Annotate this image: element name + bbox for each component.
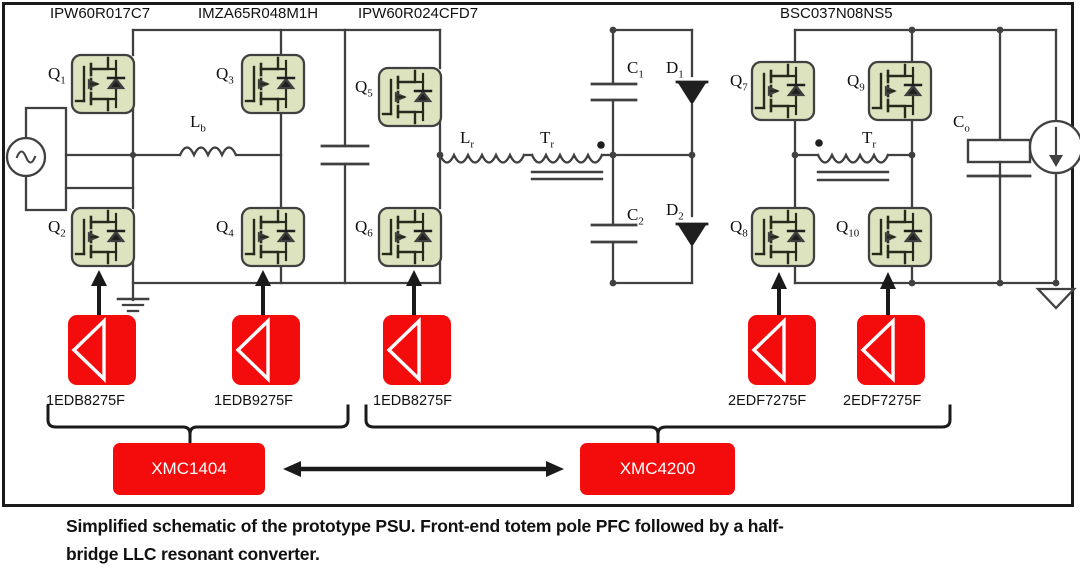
label-inductor-lr-sub: r (470, 138, 474, 150)
designator-q10-sub: 10 (848, 227, 859, 239)
mosfet-q9 (869, 62, 931, 120)
mcu-box-xmc4200[interactable]: XMC4200 (580, 443, 735, 495)
chassis-ground-icon (1038, 289, 1074, 308)
label-capacitor-c1-sub: 1 (638, 68, 644, 80)
designator-q5-sub: 5 (367, 87, 373, 99)
ac-source-icon (7, 138, 45, 176)
label-transformer-secondary: Tr (862, 128, 876, 150)
label-transformer-primary: Tr (540, 128, 554, 150)
designator-q2-sub: 2 (60, 227, 66, 239)
node-dot-sec-bottom (909, 280, 916, 287)
designator-q2-letter: Q (48, 217, 60, 236)
designator-q9-sub: 9 (859, 81, 865, 93)
double-headed-arrow-icon (283, 461, 564, 477)
inductor-lr-coil (440, 155, 524, 163)
designator-q8: Q8 (730, 217, 748, 239)
designator-q6-sub: 6 (367, 227, 373, 239)
transformer-secondary-winding (818, 155, 888, 163)
node-dot-load-gnd (1053, 280, 1060, 287)
node-dot-rect-mid (689, 152, 696, 159)
caption-line-2: bridge LLC resonant converter. (66, 540, 1026, 568)
designator-q5: Q5 (355, 77, 373, 99)
mosfet-q6 (379, 208, 441, 266)
label-diode-d1-letter: D (666, 58, 678, 77)
designator-q10: Q10 (836, 217, 859, 239)
capacitor-co-plate-box (968, 140, 1030, 162)
designator-q3-letter: Q (216, 64, 228, 83)
label-transformer-primary-sub: r (550, 138, 554, 150)
gate-driver-label-2: 1EDB9275F (214, 393, 293, 409)
mcu-box-xmc1404[interactable]: XMC1404 (113, 443, 265, 495)
figure-caption: Simplified schematic of the prototype PS… (66, 512, 1026, 568)
designator-q8-letter: Q (730, 217, 742, 236)
designator-q1-letter: Q (48, 64, 60, 83)
label-inductor-lr: Lr (460, 128, 474, 150)
label-capacitor-co-sub: o (964, 122, 970, 134)
gate-driver-label-3: 1EDB8275F (373, 393, 452, 409)
label-diode-d2: D2 (666, 200, 684, 222)
mosfet-q7 (752, 62, 814, 120)
designator-q9: Q9 (847, 71, 865, 93)
inductor-lb-coil (180, 148, 236, 156)
polarity-dot-secondary (815, 139, 823, 147)
current-source-icon (1030, 121, 1080, 173)
designator-q9-letter: Q (847, 71, 859, 90)
label-transformer-secondary-letter: T (862, 128, 872, 147)
gate-driver-label-5: 2EDF7275F (843, 393, 921, 409)
designator-q5-letter: Q (355, 77, 367, 96)
label-diode-d2-letter: D (666, 200, 678, 219)
figure-root: XMC1404 XMC4200 IPW60R017C7 IMZA65R048M1… (0, 0, 1080, 584)
designator-q4: Q4 (216, 217, 234, 239)
label-capacitor-c2: C2 (627, 205, 644, 227)
diode-d2 (677, 224, 707, 247)
mcu-label-xmc1404: XMC1404 (151, 459, 227, 479)
part-label-q3-q4: IMZA65R048M1H (198, 5, 318, 22)
designator-q10-letter: Q (836, 217, 848, 236)
diode-d1 (677, 82, 707, 105)
designator-q7: Q7 (730, 71, 748, 93)
label-diode-d1: D1 (666, 58, 684, 80)
mosfet-q10 (869, 208, 931, 266)
node-dot-sec-top (909, 27, 916, 34)
bracket-left-group (48, 406, 348, 443)
mosfet-q8 (752, 208, 814, 266)
transformer-secondary (795, 155, 912, 180)
label-diode-d2-sub: 2 (678, 210, 684, 222)
schematic-canvas (0, 0, 1080, 584)
label-transformer-primary-letter: T (540, 128, 550, 147)
gate-driver-box-4[interactable] (748, 315, 816, 385)
label-transformer-secondary-sub: r (872, 138, 876, 150)
designator-q1-sub: 1 (60, 74, 66, 86)
gate-driver-box-2[interactable] (232, 315, 300, 385)
gate-driver-label-4: 2EDF7275F (728, 393, 806, 409)
label-inductor-lb: Lb (190, 112, 206, 134)
transformer-primary (532, 155, 602, 179)
designator-q2: Q2 (48, 217, 66, 239)
designator-q6: Q6 (355, 217, 373, 239)
mosfet-q1 (72, 55, 134, 113)
designator-q6-letter: Q (355, 217, 367, 236)
gate-driver-label-1: 1EDB8275F (46, 393, 125, 409)
bracket-right-group (366, 406, 950, 443)
label-diode-d1-sub: 1 (678, 68, 684, 80)
designator-q4-sub: 4 (228, 227, 234, 239)
mosfet-q4 (242, 208, 304, 266)
label-capacitor-co-letter: C (953, 112, 964, 131)
designator-q8-sub: 8 (742, 227, 748, 239)
part-label-q1-q2: IPW60R017C7 (50, 5, 150, 22)
designator-q3-sub: 3 (228, 74, 234, 86)
polarity-dot-primary (597, 141, 605, 149)
designator-q7-sub: 7 (742, 81, 748, 93)
label-capacitor-co: Co (953, 112, 970, 134)
label-inductor-lb-letter: L (190, 112, 200, 131)
designator-q4-letter: Q (216, 217, 228, 236)
mcu-label-xmc4200: XMC4200 (620, 459, 696, 479)
caption-line-1: Simplified schematic of the prototype PS… (66, 512, 1026, 540)
mosfet-q3 (242, 55, 304, 113)
mosfet-q2 (72, 208, 134, 266)
label-capacitor-c2-letter: C (627, 205, 638, 224)
part-label-q5-q6: IPW60R024CFD7 (358, 5, 478, 22)
label-inductor-lr-letter: L (460, 128, 470, 147)
designator-q1: Q1 (48, 64, 66, 86)
gate-drive-arrows (91, 270, 896, 313)
label-capacitor-c2-sub: 2 (638, 215, 644, 227)
designator-q3: Q3 (216, 64, 234, 86)
mosfet-q5 (379, 68, 441, 126)
label-capacitor-c1: C1 (627, 58, 644, 80)
transformer-primary-winding (532, 155, 602, 163)
label-capacitor-c1-letter: C (627, 58, 638, 77)
gate-driver-box-1[interactable] (68, 315, 136, 385)
gate-driver-box-5[interactable] (857, 315, 925, 385)
part-label-q7-q10: BSC037N08NS5 (780, 5, 893, 22)
label-inductor-lb-sub: b (200, 122, 206, 134)
designator-q7-letter: Q (730, 71, 742, 90)
gate-driver-box-3[interactable] (383, 315, 451, 385)
